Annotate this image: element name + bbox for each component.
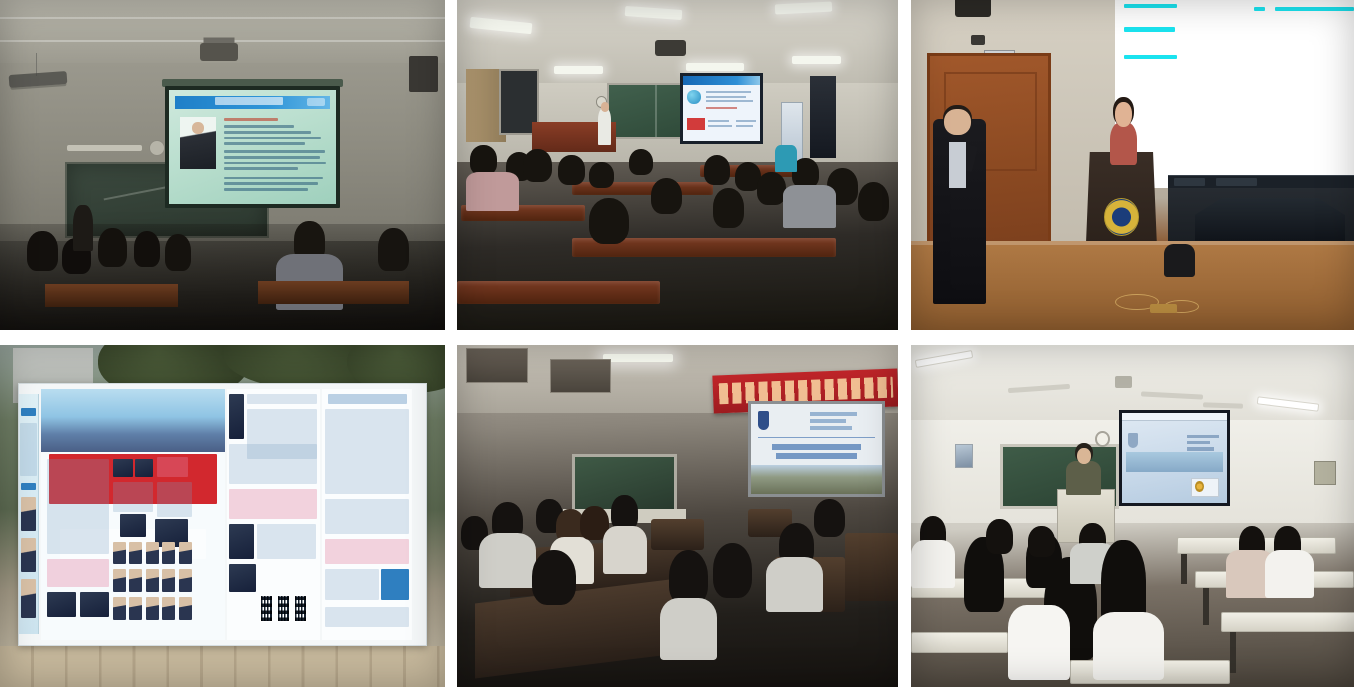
ceiling-seam [0, 17, 445, 19]
student-torso [766, 557, 823, 612]
desk-label [1174, 178, 1206, 186]
ceiling-speaker [955, 0, 990, 17]
photo-4-outdoor-poster-board [0, 345, 445, 687]
student-head [589, 162, 613, 188]
qr-code [277, 595, 290, 623]
student-torso [660, 598, 717, 660]
screen-highlight-line [1124, 4, 1177, 8]
poster-photo [229, 564, 255, 592]
chair [651, 519, 704, 550]
faculty-headshot [162, 542, 175, 565]
student-head [134, 231, 161, 267]
photo-6-modern-classroom [911, 345, 1354, 687]
slide-campus-panorama [1126, 452, 1222, 472]
photo-3-auditorium-stage [911, 0, 1354, 330]
university-emblem [1104, 198, 1139, 236]
ceiling-lamp [686, 63, 743, 71]
ceiling-projector [200, 43, 238, 61]
ceiling-lamp [554, 66, 603, 74]
equipment-cabinet [810, 76, 836, 159]
faculty-headshot [146, 542, 159, 565]
projection-screen [748, 401, 885, 497]
student-head [611, 495, 637, 529]
student-head [558, 155, 584, 185]
faculty-headshot [162, 597, 175, 620]
qr-code [260, 595, 273, 623]
desk-top-equipment [1195, 198, 1346, 241]
poster-photo [135, 459, 153, 477]
desk-label [1216, 178, 1257, 186]
slide-campus-photo [751, 465, 882, 494]
ceiling-lamp [792, 56, 841, 64]
desk-leg [1181, 554, 1186, 585]
ceiling-projector [655, 40, 686, 57]
slide-header-bar [683, 76, 761, 85]
slide-surface [169, 90, 337, 204]
faculty-headshot [162, 569, 175, 592]
faculty-headshot [113, 542, 126, 565]
desk-row [457, 281, 660, 304]
student-torso [775, 145, 797, 171]
photo-2-classroom-audience [457, 0, 898, 330]
contact-info-box [381, 569, 409, 599]
student-head [27, 231, 58, 271]
lecturer [1066, 461, 1101, 495]
slide-logo [758, 411, 770, 431]
photo-cell-5[interactable] [457, 345, 898, 687]
poster-photo [113, 459, 133, 477]
photo-5-meeting-room [457, 345, 898, 687]
speaker-head [944, 109, 971, 135]
fluorescent-tube [603, 354, 674, 362]
student-head [523, 149, 552, 182]
student-head [713, 543, 753, 598]
ceiling [911, 345, 1354, 420]
faculty-headshot [146, 569, 159, 592]
student-desk [1221, 612, 1354, 633]
student-head [165, 234, 192, 270]
faculty-headshot [129, 542, 142, 565]
power-strip [1150, 304, 1177, 314]
wall-sensor [971, 35, 985, 46]
screen-highlight-line [1254, 7, 1266, 11]
wall-vent [466, 348, 528, 382]
paved-ground [0, 646, 445, 687]
student-torso [1093, 612, 1164, 680]
fluorescent-tube [67, 145, 143, 151]
qr-code [294, 595, 307, 623]
poster-photo [229, 394, 244, 439]
presenter-head [601, 102, 609, 111]
photo-cell-2[interactable] [457, 0, 898, 330]
faculty-headshot [146, 597, 159, 620]
slide-badge [1191, 478, 1218, 498]
wall-speaker [409, 56, 438, 92]
student-head [757, 172, 786, 205]
main-poster-panel [41, 389, 224, 640]
student-head [1028, 526, 1055, 557]
faculty-headshot [21, 497, 36, 531]
photo-cell-3[interactable] [911, 0, 1354, 330]
conference-table [475, 579, 678, 679]
desk-row [258, 281, 409, 304]
student-head [986, 519, 1013, 553]
poster-photo [120, 514, 146, 537]
photo-cell-4[interactable] [0, 345, 445, 687]
left-side-panel [19, 394, 39, 634]
student-torso [1265, 550, 1314, 598]
student-head [532, 550, 576, 605]
slide-surface [1122, 413, 1227, 503]
slide-accent-block [687, 118, 706, 130]
slide-top-bar [1122, 413, 1227, 421]
wall-plate [1314, 461, 1336, 485]
faculty-headshot [129, 597, 142, 620]
faculty-headshot [179, 597, 192, 620]
poster-banner-image [41, 389, 224, 452]
banner-text [718, 377, 893, 404]
poster-board [18, 383, 427, 646]
student-head [669, 550, 709, 605]
desk-leg [1230, 632, 1236, 673]
photo-cell-6[interactable] [911, 345, 1354, 687]
screen-highlight-line [1124, 55, 1177, 59]
projection-screen [165, 86, 341, 208]
poster-photo [229, 524, 253, 559]
flat-panel-display [680, 73, 764, 144]
wall-clock [1095, 431, 1110, 447]
student-head [470, 145, 496, 175]
slide-title-line-1 [772, 444, 861, 450]
student-head [704, 155, 730, 185]
poster-photo [80, 592, 109, 617]
faculty-headshot [179, 542, 192, 565]
student-torso [466, 172, 519, 212]
screen-highlight-line [1124, 27, 1174, 31]
slide-logo [1128, 433, 1137, 448]
student-head [98, 228, 127, 268]
student-head [651, 178, 682, 214]
student-torso [783, 185, 836, 228]
slide-surface [683, 76, 761, 141]
ceiling-projector [1115, 376, 1133, 388]
student-head [589, 198, 629, 244]
student-torso [479, 533, 536, 588]
poster-photo [47, 592, 76, 617]
slide-title-line-2 [776, 453, 857, 459]
photo-cell-1[interactable] [0, 0, 445, 330]
student-desk [911, 632, 1008, 653]
screen-highlight-line [1275, 7, 1354, 11]
photo-1-lecture-hall [0, 0, 445, 330]
faculty-headshot [21, 579, 36, 617]
slide-globe-graphic [687, 90, 702, 104]
projection-screen [1119, 410, 1230, 506]
student-torso [1008, 605, 1070, 680]
control-desk-front-panel [1168, 175, 1354, 188]
student-head [858, 182, 889, 222]
ceiling-seam [0, 40, 445, 42]
student-head [814, 499, 845, 537]
presenter-body [598, 109, 611, 145]
right-poster-panel [322, 389, 412, 640]
chair [845, 533, 898, 601]
slide-portrait-photo [180, 117, 215, 168]
student-torso [911, 540, 955, 588]
faculty-headshot [113, 597, 126, 620]
desk-leg [1203, 588, 1208, 626]
slide-header-logo [307, 98, 326, 106]
wall-vent [550, 359, 612, 393]
slide-header-text [215, 97, 283, 104]
desk-row [45, 284, 179, 307]
assistant-at-lectern [1110, 122, 1137, 165]
standing-person [73, 205, 93, 251]
student-head [378, 228, 409, 271]
middle-poster-panel [227, 389, 321, 640]
faculty-headshot [113, 569, 126, 592]
faculty-headshot [129, 569, 142, 592]
photo-collage [0, 0, 1354, 687]
bag-on-floor [1164, 244, 1195, 277]
wall-picture [955, 444, 973, 468]
student-head [629, 149, 653, 175]
slide-header-bar [175, 96, 329, 110]
student-torso [603, 526, 647, 574]
student-head [713, 188, 744, 228]
faculty-headshot [21, 538, 36, 572]
speaker-shirt [949, 142, 967, 188]
faculty-headshot [179, 569, 192, 592]
